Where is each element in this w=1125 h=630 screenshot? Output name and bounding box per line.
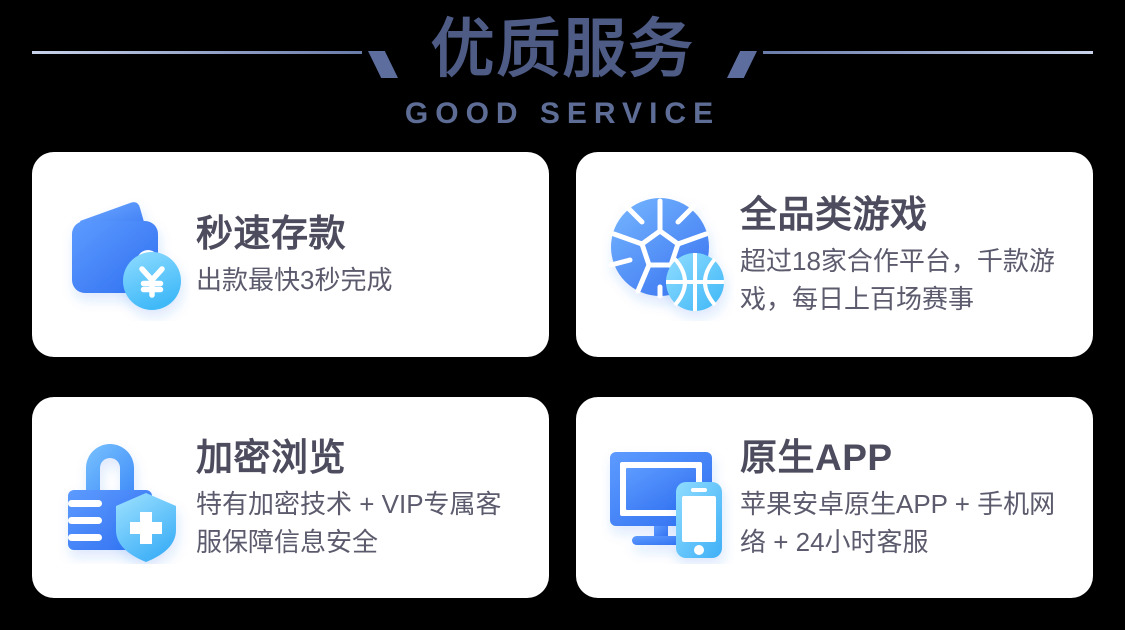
feature-card-encryption[interactable]: 加密浏览 特有加密技术 + VIP专属客服保障信息安全 (32, 397, 549, 598)
feature-card-desc: 出款最快3秒完成 (196, 261, 525, 299)
promo-banner: 优质服务 GOOD SERVICE (0, 0, 1125, 630)
feature-card-title: 原生APP (740, 435, 1069, 481)
feature-card-title: 全品类游戏 (740, 192, 1069, 238)
feature-card-native-app[interactable]: 原生APP 苹果安卓原生APP + 手机网络 + 24小时客服 (576, 397, 1093, 598)
feature-card-text: 全品类游戏 超过18家合作平台，千款游戏，每日上百场赛事 (740, 192, 1069, 318)
header: 优质服务 GOOD SERVICE (0, 0, 1125, 145)
feature-card-deposit[interactable]: 秒速存款 出款最快3秒完成 (32, 152, 549, 357)
feature-card-games[interactable]: 全品类游戏 超过18家合作平台，千款游戏，每日上百场赛事 (576, 152, 1093, 357)
feature-card-text: 秒速存款 出款最快3秒完成 (196, 211, 525, 299)
monitor-phone-icon (602, 432, 734, 564)
feature-card-text: 加密浏览 特有加密技术 + VIP专属客服保障信息安全 (196, 435, 525, 561)
feature-card-desc: 苹果安卓原生APP + 手机网络 + 24小时客服 (740, 485, 1069, 561)
feature-card-desc: 超过18家合作平台，千款游戏，每日上百场赛事 (740, 242, 1069, 318)
page-title: 优质服务 (0, 8, 1125, 90)
feature-card-text: 原生APP 苹果安卓原生APP + 手机网络 + 24小时客服 (740, 435, 1069, 561)
feature-card-title: 加密浏览 (196, 435, 525, 481)
feature-card-grid: 秒速存款 出款最快3秒完成 (32, 152, 1093, 598)
feature-card-title: 秒速存款 (196, 211, 525, 257)
soccer-basketball-icon (602, 189, 734, 321)
page-subtitle: GOOD SERVICE (0, 96, 1125, 132)
wallet-yen-icon (58, 189, 190, 321)
lock-shield-icon (58, 432, 190, 564)
feature-card-desc: 特有加密技术 + VIP专属客服保障信息安全 (196, 485, 525, 561)
